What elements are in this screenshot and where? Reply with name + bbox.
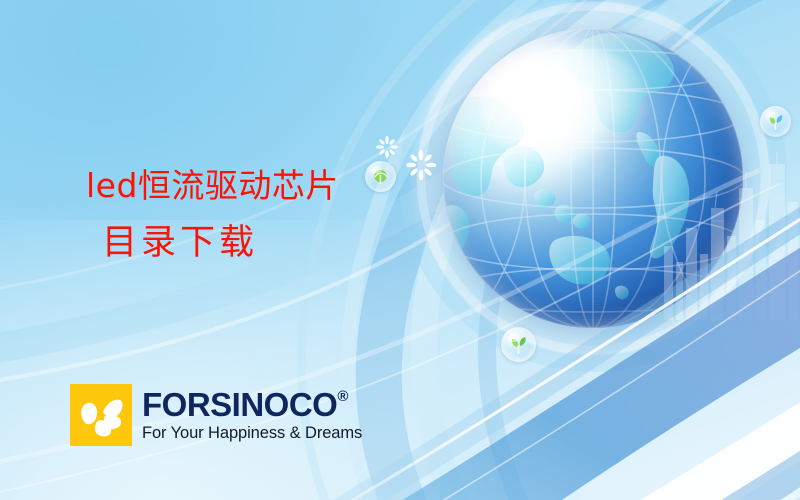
four-petal-flower-icon xyxy=(70,384,132,446)
petal-mark-svg xyxy=(70,384,132,446)
brand-logo: FORSINOCO® For Your Happiness & Dreams xyxy=(70,384,362,446)
logo-name: FORSINOCO® xyxy=(142,388,362,421)
promo-banner: led恒流驱动芯片 目录下载 FORSINOCO® xyxy=(0,0,800,500)
headline-line-1: led恒流驱动芯片 xyxy=(86,163,339,209)
logo-text-block: FORSINOCO® For Your Happiness & Dreams xyxy=(142,388,362,442)
registered-trademark-icon: ® xyxy=(337,389,348,404)
headline: led恒流驱动芯片 目录下载 xyxy=(86,163,339,267)
logo-name-text: FORSINOCO xyxy=(142,388,337,421)
logo-tagline: For Your Happiness & Dreams xyxy=(142,424,362,442)
headline-line-2: 目录下载 xyxy=(102,219,339,267)
